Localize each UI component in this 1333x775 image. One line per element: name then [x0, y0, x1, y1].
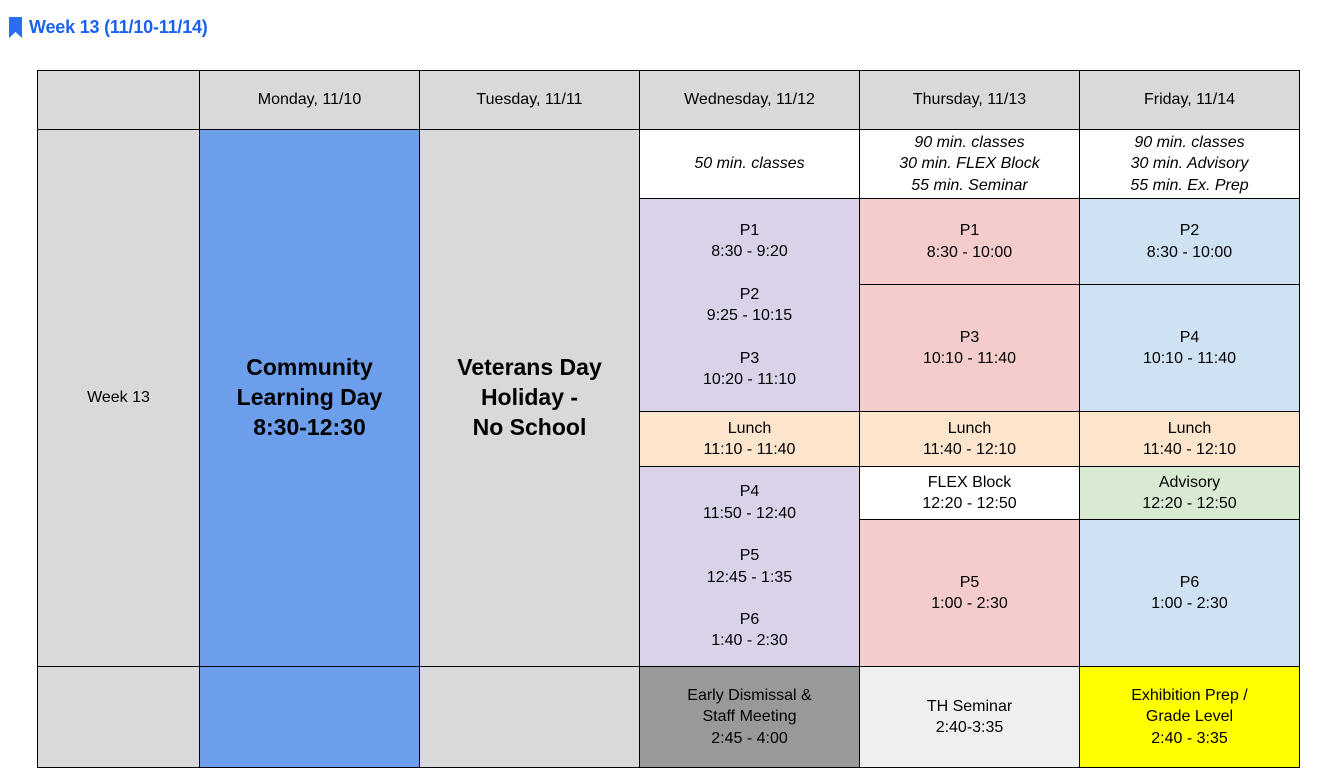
wednesday-morning-block: P1 8:30 - 9:20 P2 9:25 - 10:15 P3 10:20 …	[640, 199, 860, 412]
friday-exhibition-prep: Exhibition Prep / Grade Level 2:40 - 3:3…	[1080, 667, 1300, 768]
wednesday-early-dismissal: Early Dismissal & Staff Meeting 2:45 - 4…	[640, 667, 860, 768]
notes-thursday: 90 min. classes 30 min. FLEX Block 55 mi…	[860, 130, 1080, 199]
thursday-p3: P3 10:10 - 11:40	[860, 285, 1080, 412]
friday-p4: P4 10:10 - 11:40	[1080, 285, 1300, 412]
thursday-flex-block: FLEX Block 12:20 - 12:50	[860, 467, 1080, 520]
friday-p2: P2 8:30 - 10:00	[1080, 199, 1300, 285]
header-thursday: Thursday, 11/13	[860, 71, 1080, 130]
after-school-row: Early Dismissal & Staff Meeting 2:45 - 4…	[38, 667, 1300, 768]
notes-friday: 90 min. classes 30 min. Advisory 55 min.…	[1080, 130, 1300, 199]
header-wednesday: Wednesday, 11/12	[640, 71, 860, 130]
header-tuesday: Tuesday, 11/11	[420, 71, 640, 130]
wednesday-lunch: Lunch 11:10 - 11:40	[640, 412, 860, 467]
wednesday-afternoon-block: P4 11:50 - 12:40 P5 12:45 - 1:35 P6 1:40…	[640, 467, 860, 667]
page-title: Week 13 (11/10-11/14)	[29, 17, 208, 38]
tuesday-after-school	[420, 667, 640, 768]
notes-row: Week 13 Community Learning Day 8:30-12:3…	[38, 130, 1300, 199]
veterans-day-text: Veterans Day Holiday - No School	[424, 353, 635, 443]
header-monday: Monday, 11/10	[200, 71, 420, 130]
thursday-seminar: TH Seminar 2:40-3:35	[860, 667, 1080, 768]
monday-all-day-cell: Community Learning Day 8:30-12:30	[200, 130, 420, 667]
header-corner-cell	[38, 71, 200, 130]
header-friday: Friday, 11/14	[1080, 71, 1300, 130]
friday-lunch: Lunch 11:40 - 12:10	[1080, 412, 1300, 467]
friday-p6: P6 1:00 - 2:30	[1080, 520, 1300, 667]
week-label-cell: Week 13	[38, 130, 200, 667]
page-title-bar: Week 13 (11/10-11/14)	[8, 16, 208, 39]
tuesday-all-day-cell: Veterans Day Holiday - No School	[420, 130, 640, 667]
community-learning-day-text: Community Learning Day 8:30-12:30	[204, 353, 415, 443]
schedule-page: Week 13 (11/10-11/14) Monday, 11/10 Tues…	[0, 0, 1333, 775]
friday-advisory: Advisory 12:20 - 12:50	[1080, 467, 1300, 520]
week-label-spacer	[38, 667, 200, 768]
thursday-p1: P1 8:30 - 10:00	[860, 199, 1080, 285]
monday-after-school	[200, 667, 420, 768]
table-header-row: Monday, 11/10 Tuesday, 11/11 Wednesday, …	[38, 71, 1300, 130]
bookmark-icon	[8, 16, 23, 39]
thursday-p5: P5 1:00 - 2:30	[860, 520, 1080, 667]
weekly-schedule-table: Monday, 11/10 Tuesday, 11/11 Wednesday, …	[37, 70, 1300, 768]
notes-wednesday: 50 min. classes	[640, 130, 860, 199]
thursday-lunch: Lunch 11:40 - 12:10	[860, 412, 1080, 467]
